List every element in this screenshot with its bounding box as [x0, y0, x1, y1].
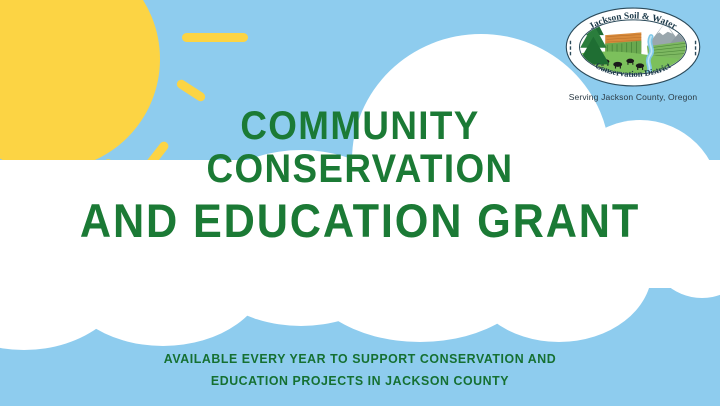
logo-caption: Serving Jackson County, Oregon [552, 92, 714, 102]
poster-canvas: Jackson Soil & Water Conservation Distri… [0, 0, 720, 406]
headline-line-1: COMMUNITY [29, 104, 691, 148]
subtitle-line-2: EDUCATION PROJECTS IN JACKSON COUNTY [18, 370, 702, 392]
page-title: COMMUNITY CONSERVATION AND EDUCATION GRA… [0, 104, 720, 252]
subtitle-line-1: AVAILABLE EVERY YEAR TO SUPPORT CONSERVA… [18, 348, 702, 370]
headline-line-2: CONSERVATION [29, 148, 691, 190]
organization-logo: Jackson Soil & Water Conservation Distri… [552, 6, 714, 102]
logo-emblem-icon: Jackson Soil & Water Conservation Distri… [563, 6, 703, 88]
headline-line-3: AND EDUCATION GRANT [29, 190, 691, 252]
subtitle: AVAILABLE EVERY YEAR TO SUPPORT CONSERVA… [0, 348, 720, 392]
